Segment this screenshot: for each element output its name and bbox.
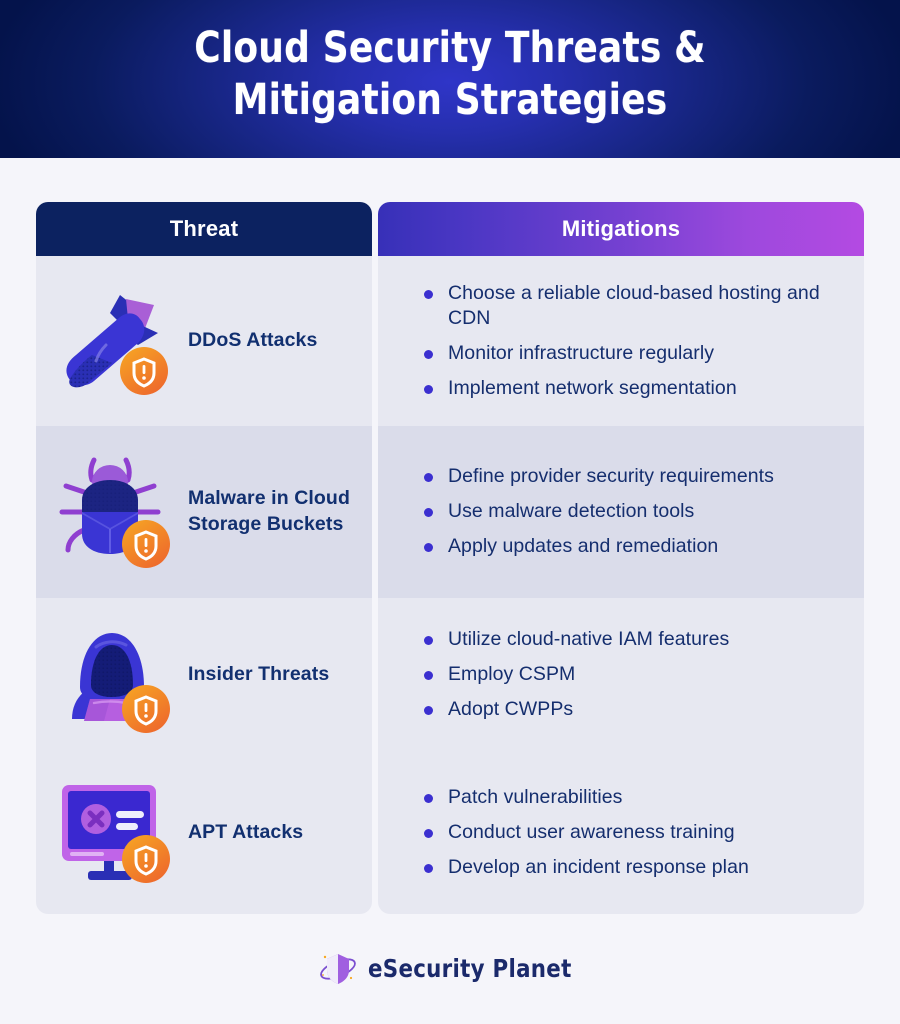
shield-planet-icon [318, 948, 358, 988]
list-item: Implement network segmentation [424, 376, 842, 402]
mitigations-cell: Patch vulnerabilities Conduct user aware… [378, 752, 864, 914]
mitigations-list: Utilize cloud-native IAM features Employ… [424, 618, 842, 731]
bullet-icon [424, 385, 433, 394]
mitigation-text: Apply updates and remediation [448, 535, 718, 557]
bullet-icon [424, 543, 433, 552]
list-item: Patch vulnerabilities [424, 785, 842, 811]
brand-name: eSecurity Planet [368, 954, 572, 983]
threat-label: DDoS Attacks [188, 328, 317, 354]
mitigation-text: Employ CSPM [448, 663, 575, 685]
mitigations-list: Patch vulnerabilities Conduct user aware… [424, 776, 842, 889]
mitigation-text: Adopt CWPPs [448, 698, 573, 720]
mitigations-cell: Define provider security requirements Us… [378, 426, 864, 598]
mitigation-text: Choose a reliable cloud-based hosting an… [448, 282, 820, 330]
mitigation-text: Develop an incident response plan [448, 856, 749, 878]
page-title-line-1: Cloud Security Threats & [194, 23, 705, 73]
missile-bomb-icon [54, 281, 176, 401]
table-row: Malware in Cloud Storage Buckets [36, 426, 372, 598]
list-item: Define provider security requirements [424, 464, 842, 490]
bullet-icon [424, 290, 433, 299]
hooded-hacker-icon [54, 615, 176, 735]
mitigation-text: Utilize cloud-native IAM features [448, 628, 729, 650]
page-title-line-2: Mitigation Strategies [32, 74, 869, 126]
bullet-icon [424, 636, 433, 645]
threat-label: Malware in Cloud Storage Buckets [188, 486, 360, 537]
bullet-icon [424, 794, 433, 803]
list-item: Adopt CWPPs [424, 697, 842, 723]
list-item: Use malware detection tools [424, 499, 842, 525]
table-header-mitigations: Mitigations [378, 202, 864, 256]
footer-branding: eSecurity Planet [0, 948, 900, 988]
list-item: Develop an incident response plan [424, 855, 842, 881]
threat-label: APT Attacks [188, 820, 303, 846]
table-row: APT Attacks [36, 752, 372, 914]
mitigation-text: Implement network segmentation [448, 377, 737, 399]
mitigations-cell: Utilize cloud-native IAM features Employ… [378, 598, 864, 752]
threat-label: Insider Threats [188, 662, 329, 688]
header-banner: Cloud Security Threats & Mitigation Stra… [0, 0, 900, 158]
list-item: Apply updates and remediation [424, 534, 842, 560]
bullet-icon [424, 350, 433, 359]
bullet-icon [424, 706, 433, 715]
mitigations-list: Define provider security requirements Us… [424, 455, 842, 568]
threats-table: Threat Mitigations [36, 202, 864, 914]
list-item: Employ CSPM [424, 662, 842, 688]
mitigation-text: Monitor infrastructure regularly [448, 342, 714, 364]
monitor-error-icon [54, 773, 176, 893]
mitigation-text: Define provider security requirements [448, 465, 774, 487]
table-header-threat: Threat [36, 202, 372, 256]
bullet-icon [424, 829, 433, 838]
mitigation-text: Patch vulnerabilities [448, 786, 622, 808]
page-title: Cloud Security Threats & Mitigation Stra… [32, 22, 869, 127]
bullet-icon [424, 671, 433, 680]
mitigations-list: Choose a reliable cloud-based hosting an… [424, 272, 842, 411]
list-item: Choose a reliable cloud-based hosting an… [424, 281, 842, 332]
bullet-icon [424, 508, 433, 517]
bug-malware-icon [54, 452, 176, 572]
list-item: Monitor infrastructure regularly [424, 341, 842, 367]
list-item: Conduct user awareness training [424, 820, 842, 846]
table-row: Insider Threats [36, 598, 372, 752]
list-item: Utilize cloud-native IAM features [424, 627, 842, 653]
bullet-icon [424, 473, 433, 482]
mitigations-cell: Choose a reliable cloud-based hosting an… [378, 256, 864, 426]
bullet-icon [424, 864, 433, 873]
table-row: DDoS Attacks [36, 256, 372, 426]
mitigation-text: Conduct user awareness training [448, 821, 735, 843]
mitigation-text: Use malware detection tools [448, 500, 694, 522]
